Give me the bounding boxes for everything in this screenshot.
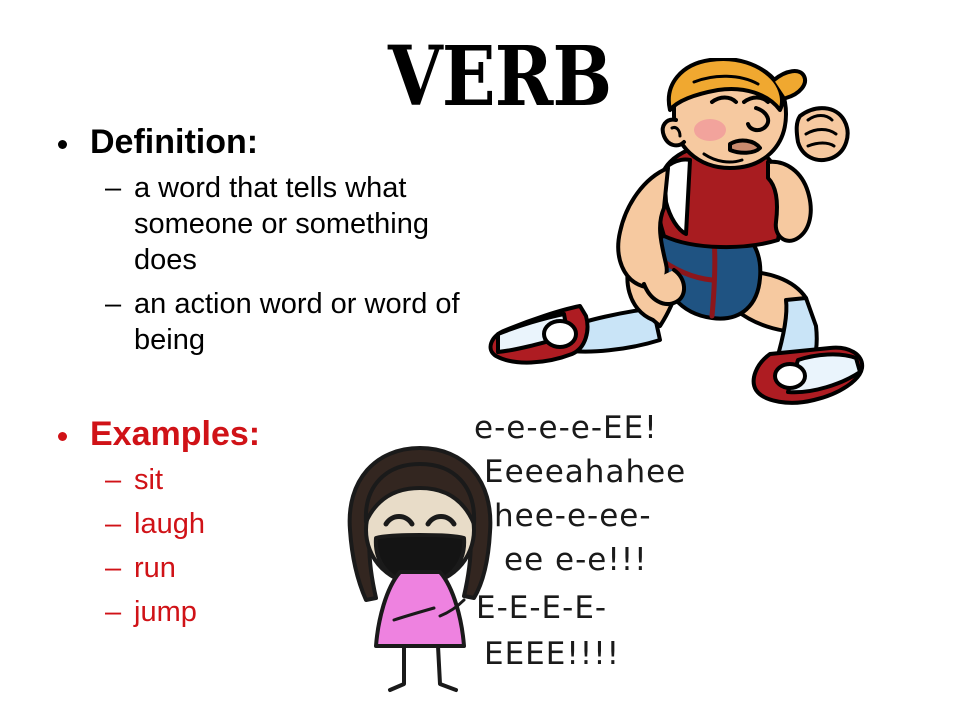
- definition-heading-label: Definition:: [90, 123, 258, 161]
- bullet-dot-icon: [58, 140, 67, 149]
- examples-heading-label: Examples:: [90, 415, 260, 453]
- definition-item-2-label: an action word or word of being: [134, 288, 460, 356]
- bullet-definition-item-1: –a word that tells what someone or somet…: [44, 170, 464, 278]
- example-sit-label: sit: [134, 464, 163, 496]
- bullet-dot-icon: [58, 432, 67, 441]
- running-boy-image: [468, 58, 868, 418]
- definition-item-1-label: a word that tells what someone or someth…: [134, 172, 429, 276]
- dash-marker-icon: –: [105, 506, 121, 542]
- laugh-line-1: e-e-e-e-EE!: [474, 410, 658, 446]
- example-run-label: run: [134, 552, 176, 584]
- bullet-definition-item-2: –an action word or word of being: [44, 286, 464, 358]
- handwritten-laughter-text: e-e-e-e-EE! Eeeeahahee hee-e-ee- ee e-e!…: [466, 408, 766, 688]
- laugh-line-3: hee-e-ee-: [494, 498, 652, 534]
- dash-marker-icon: –: [105, 286, 121, 322]
- laugh-line-2: Eeeeahahee: [484, 454, 686, 490]
- laugh-line-6: EEEE!!!!: [484, 636, 620, 672]
- example-jump-label: jump: [134, 596, 197, 628]
- laugh-line-4: ee e-e!!!: [504, 542, 648, 578]
- laugh-line-5: E-E-E-E-: [476, 590, 607, 626]
- example-laugh-label: laugh: [134, 508, 205, 540]
- dash-marker-icon: –: [105, 462, 121, 498]
- dash-marker-icon: –: [105, 550, 121, 586]
- bullet-definition-heading: Definition:: [44, 122, 464, 162]
- dash-marker-icon: –: [105, 594, 121, 630]
- slide-canvas: VERB Definition: –a word that tells what…: [0, 0, 960, 720]
- dash-marker-icon: –: [105, 170, 121, 206]
